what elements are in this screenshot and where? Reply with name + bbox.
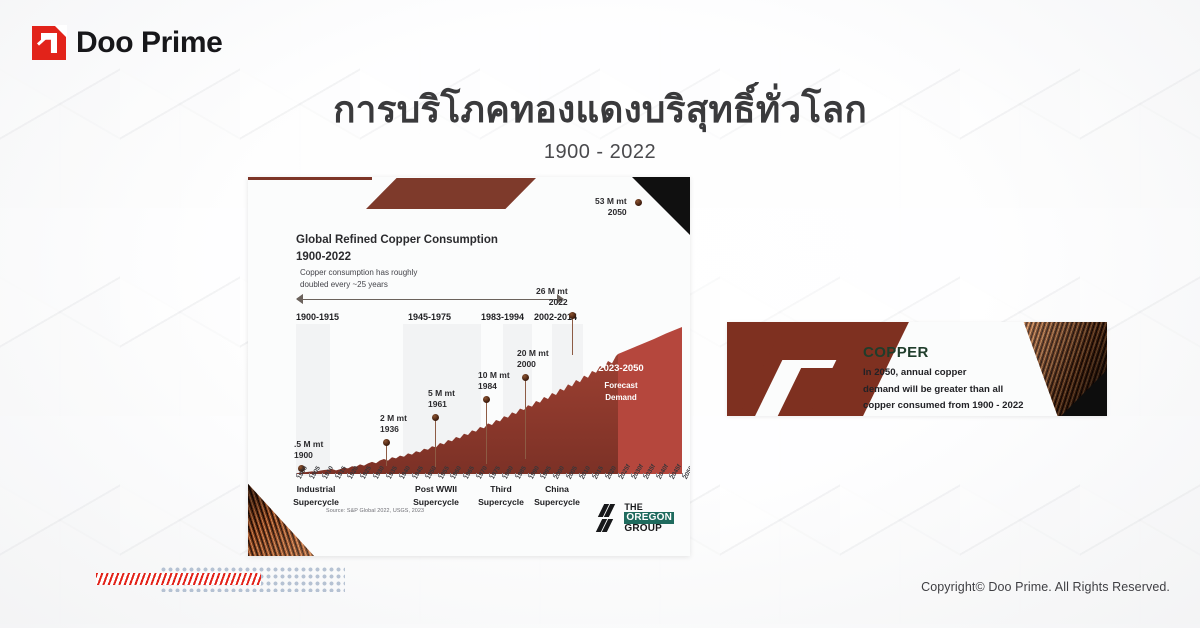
supercycle-line2: Supercycle xyxy=(413,497,459,507)
callout-body: In 2050, annual copper demand will be gr… xyxy=(863,365,1093,415)
data-point-year: 1984 xyxy=(478,381,497,391)
data-point-dot xyxy=(432,414,439,421)
forecast-block-label: 2023-2050 Forecast Demand xyxy=(586,363,656,404)
chart-title: Global Refined Copper Consumption 1900-2… xyxy=(296,232,498,265)
callout-body-line3: copper consumed from 1900 - 2022 xyxy=(863,400,1024,411)
card-parallelogram-decoration xyxy=(366,178,536,209)
chart-note-line1: Copper consumption has roughly xyxy=(300,267,417,279)
oregon-bolt-icon xyxy=(599,504,619,534)
data-point-stem xyxy=(525,377,526,459)
supercycle-line1: Industrial xyxy=(297,484,336,494)
supercycle-line1: Post WWII xyxy=(415,484,457,494)
data-point-stem xyxy=(572,315,573,355)
oregon-logo-line1: THE xyxy=(624,503,674,512)
supercycle-line1: Third xyxy=(490,484,511,494)
data-point-year: 1936 xyxy=(380,424,399,434)
data-point-stem xyxy=(435,417,436,467)
page-title: การบริโภคทองแดงบริสุทธิ์ทั่วโลก xyxy=(0,88,1200,132)
data-point-dot xyxy=(569,312,576,319)
footer-copyright: Copyright© Doo Prime. All Rights Reserve… xyxy=(921,580,1170,594)
doo-prime-logo-icon xyxy=(32,26,66,60)
data-point-dot xyxy=(383,439,390,446)
chart-note-line2: doubled every ~25 years xyxy=(300,279,417,291)
brand-name: Doo Prime xyxy=(76,26,222,60)
data-point-label: 10 M mt xyxy=(478,370,510,380)
data-point-label: 53 M mt xyxy=(595,196,627,206)
forecast-label-2: Demand xyxy=(605,393,637,402)
chart-area-historic xyxy=(296,354,618,474)
chart-title-line2: 1900-2022 xyxy=(296,249,498,266)
data-point-year: 2050 xyxy=(608,207,627,217)
chart-title-line1: Global Refined Copper Consumption xyxy=(296,232,498,249)
data-point-label: 20 M mt xyxy=(517,348,549,358)
supercycle-caption-industrial: Industrial Supercycle xyxy=(288,483,344,509)
data-point-label: 5 M mt xyxy=(428,388,455,398)
period-label-industrial: 1900-1915 xyxy=(296,312,339,322)
copper-callout-card: COPPER In 2050, annual copper demand wil… xyxy=(727,322,1107,416)
oregon-group-logo: THE OREGON GROUP xyxy=(599,503,674,534)
brand-logo: Doo Prime xyxy=(32,26,222,60)
supercycle-caption-third: Third Supercycle xyxy=(474,483,528,509)
chart-card: Global Refined Copper Consumption 1900-2… xyxy=(248,177,690,556)
data-point-year: 1961 xyxy=(428,399,447,409)
supercycle-line1: China xyxy=(545,484,569,494)
supercycle-line2: Supercycle xyxy=(478,497,524,507)
supercycle-caption-postwwii: Post WWII Supercycle xyxy=(406,483,466,509)
data-point-dot xyxy=(483,396,490,403)
forecast-years: 2023-2050 xyxy=(586,363,656,374)
callout-title: COPPER xyxy=(863,344,929,361)
data-point-year: 2000 xyxy=(517,359,536,369)
callout-body-line2: demand will be greater than all xyxy=(863,384,1003,395)
arrow-line xyxy=(302,299,558,300)
data-point-label: 26 M mt xyxy=(536,286,568,296)
red-striped-bar-decoration xyxy=(96,573,261,585)
data-point-label: .5 M mt xyxy=(294,439,323,449)
supercycle-caption-china: China Supercycle xyxy=(530,483,584,509)
supercycle-line2: Supercycle xyxy=(293,497,339,507)
supercycle-line2: Supercycle xyxy=(534,497,580,507)
data-point-year: 2022 xyxy=(549,297,568,307)
forecast-label-1: Forecast xyxy=(604,381,637,390)
data-point-dot xyxy=(635,199,642,206)
chart-note: Copper consumption has roughly doubled e… xyxy=(300,267,417,291)
period-label-third: 1983-1994 xyxy=(481,312,524,322)
card-black-corner-decoration xyxy=(632,177,690,235)
page-subtitle: 1900 - 2022 xyxy=(0,141,1200,164)
data-point-stem xyxy=(386,442,387,466)
chart-source: Source: S&P Global 2022, USGS, 2023 xyxy=(326,508,424,514)
card-top-bar-decoration xyxy=(248,177,372,180)
doubling-arrow-annotation xyxy=(296,294,564,304)
data-point-year: 1900 xyxy=(294,450,313,460)
data-point-label: 2 M mt xyxy=(380,413,407,423)
data-point-dot xyxy=(522,374,529,381)
oregon-logo-line3: GROUP xyxy=(624,524,674,534)
data-point-stem xyxy=(486,399,487,464)
callout-body-line1: In 2050, annual copper xyxy=(863,367,966,378)
period-label-postwwii: 1945-1975 xyxy=(408,312,451,322)
